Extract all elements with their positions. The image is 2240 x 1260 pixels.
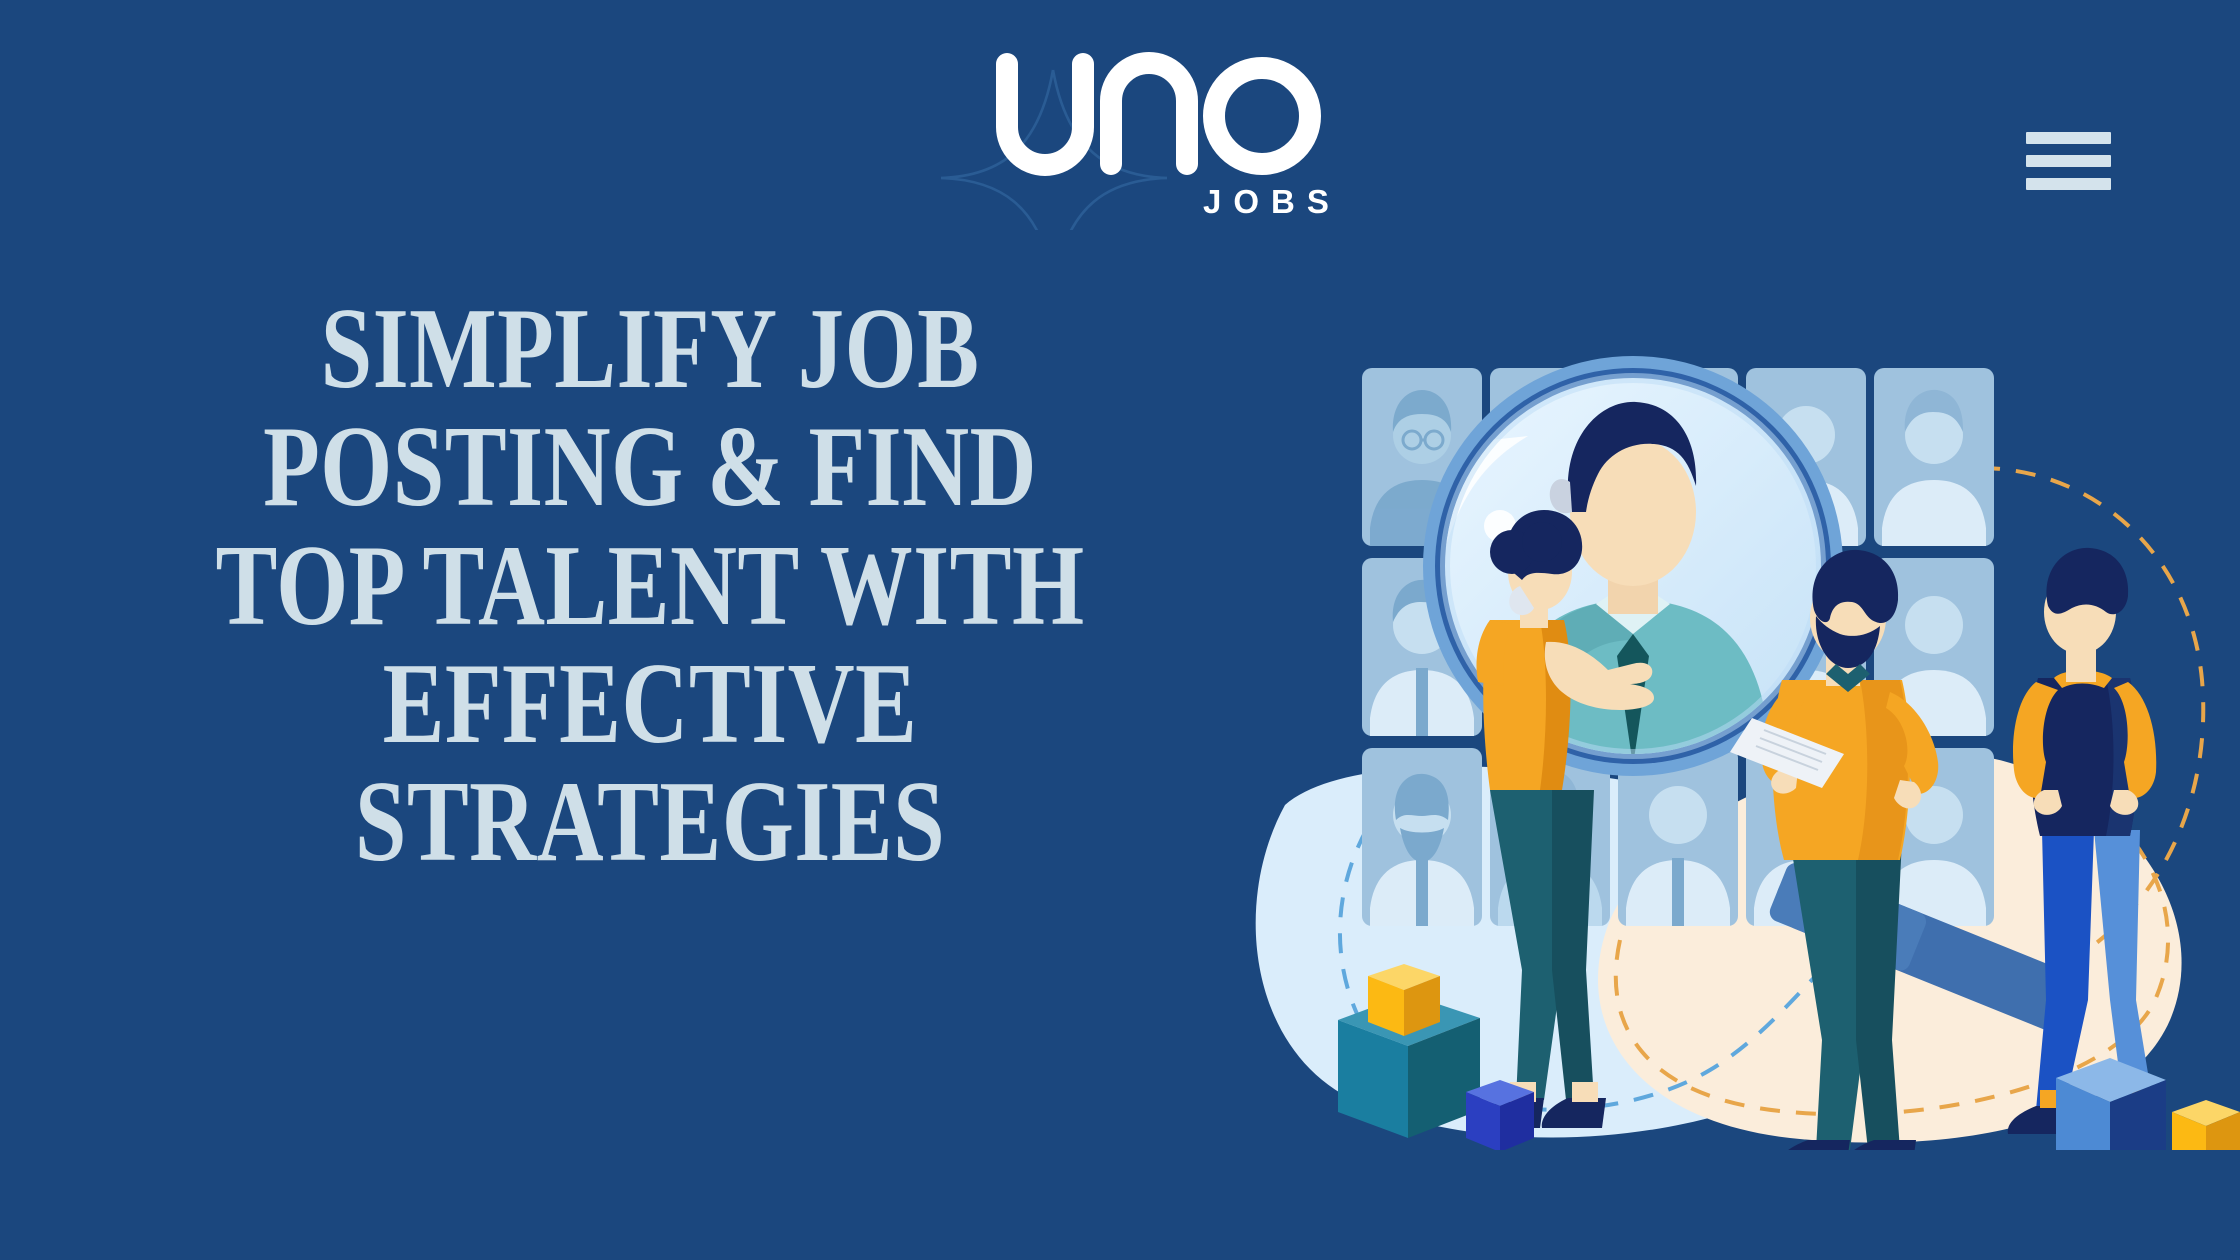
candidate-card — [1362, 748, 1482, 926]
headline-line-2: POSTING & FIND — [178, 408, 1122, 526]
uno-jobs-logo[interactable]: JOBS — [935, 30, 1355, 230]
headline-line-3: TOP TALENT WITH — [178, 527, 1122, 645]
hamburger-bar-1 — [2026, 132, 2111, 144]
logo-subtitle-text: JOBS — [1203, 183, 1341, 220]
candidate-card — [1874, 368, 1994, 546]
headline-line-1: SIMPLIFY JOB — [178, 290, 1122, 408]
hero-headline: SIMPLIFY JOB POSTING & FIND TOP TALENT W… — [178, 290, 1122, 882]
hamburger-bar-3 — [2026, 178, 2111, 190]
cube-blue-small — [1466, 1080, 1534, 1150]
hero-banner: JOBS SIMPLIFY JOB POSTING & FIND TOP TAL… — [0, 0, 2240, 1260]
hamburger-bar-2 — [2026, 155, 2111, 167]
cube-yellow-top — [1368, 964, 1440, 1036]
hamburger-menu-icon[interactable] — [2026, 132, 2111, 190]
recruitment-candidate-search-illustration — [1190, 300, 2240, 1150]
cube-yellow-right — [2172, 1100, 2240, 1150]
headline-line-4: EFFECTIVE — [178, 645, 1122, 763]
headline-line-5: STRATEGIES — [178, 763, 1122, 881]
